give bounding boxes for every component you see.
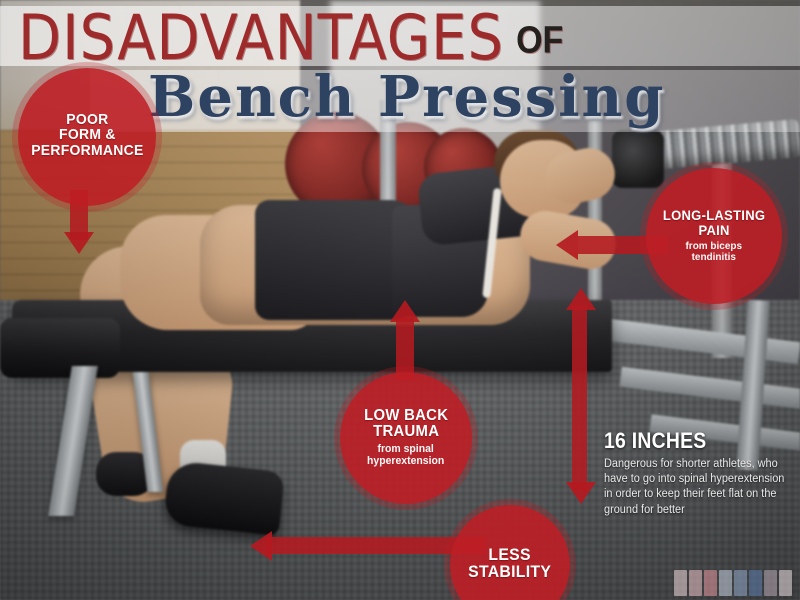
page-subtitle: Bench Pressing <box>148 64 665 130</box>
watermark-swatch <box>689 570 702 596</box>
watermark-swatch <box>719 570 732 596</box>
arrow-head <box>556 230 578 260</box>
watermark-swatch <box>674 570 687 596</box>
arrow-head <box>250 531 272 561</box>
watermark-swatch <box>779 570 792 596</box>
callout-long-lasting-pain[interactable]: LONG-LASTINGPAIN from bicepstendinitis <box>646 168 782 304</box>
callout-heading: POORFORM &PERFORMANCE <box>31 112 143 158</box>
watermark-swatch <box>734 570 747 596</box>
watermark-logo <box>674 570 792 596</box>
callout-heading: LOW BACKTRAUMA <box>364 408 448 441</box>
measurement-body: Dangerous for shorter athletes, who have… <box>604 457 790 518</box>
arrow-head <box>566 288 596 310</box>
arrow-shaft <box>572 305 587 490</box>
arrow-head <box>390 300 420 322</box>
watermark-swatch <box>764 570 777 596</box>
measurement-note: 16 INCHES Dangerous for shorter athletes… <box>604 428 800 518</box>
callout-low-back-trauma[interactable]: LOW BACKTRAUMA from spinalhyperextension <box>340 372 472 504</box>
arrow-head <box>64 232 94 254</box>
callout-subtext: from spinalhyperextension <box>367 444 444 468</box>
title-of-text: OF <box>516 19 563 62</box>
watermark-swatch <box>749 570 762 596</box>
watermark-swatch <box>704 570 717 596</box>
callout-heading: LONG-LASTINGPAIN <box>663 208 765 237</box>
arrow-head <box>566 482 596 504</box>
callout-subtext: from bicepstendinitis <box>686 241 743 264</box>
callout-heading: LESSSTABILITY <box>468 546 551 581</box>
callout-poor-form[interactable]: POORFORM &PERFORMANCE <box>18 68 156 206</box>
measurement-heading: 16 INCHES <box>604 428 776 454</box>
infographic-poster: DISADVANTAGESOF Bench Pressing POORFORM … <box>0 0 800 600</box>
arrow-shaft <box>396 318 414 380</box>
